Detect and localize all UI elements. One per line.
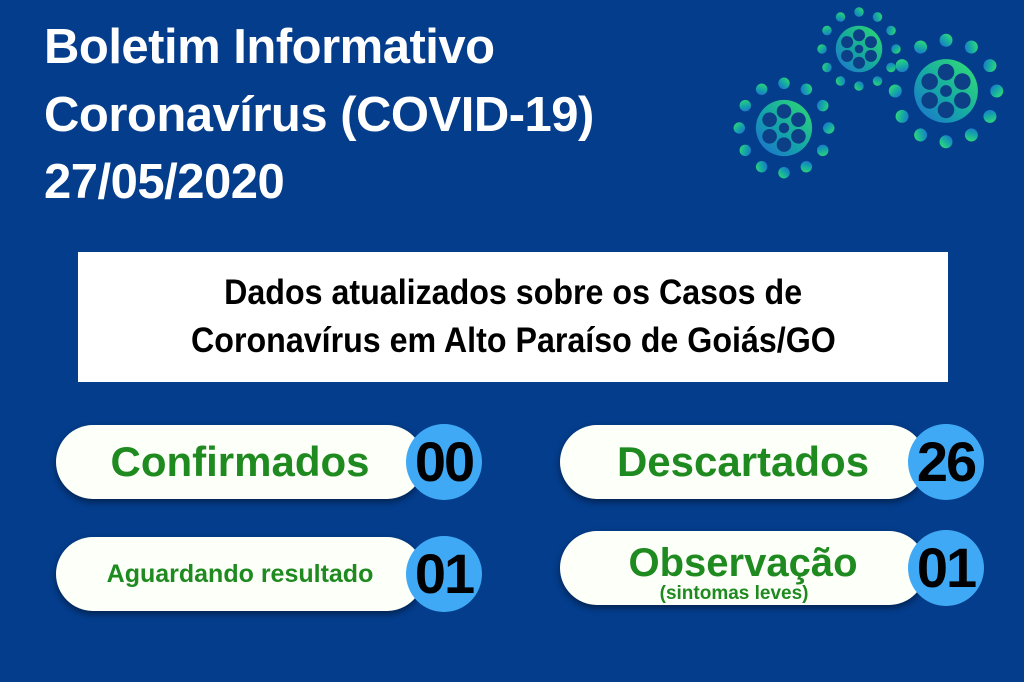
stat-confirmados: Confirmados 00 bbox=[56, 425, 482, 499]
stat-confirmados-pill: Confirmados bbox=[56, 425, 424, 499]
stat-observacao-pill: Observação (sintomas leves) bbox=[560, 531, 926, 605]
virus-icon-large bbox=[887, 32, 1005, 150]
stat-observacao-sublabel: (sintomas leves) bbox=[660, 584, 809, 603]
stat-descartados: Descartados 26 bbox=[560, 425, 984, 499]
stat-descartados-pill: Descartados bbox=[560, 425, 926, 499]
stat-observacao-value: 01 bbox=[917, 540, 975, 596]
stat-descartados-bubble: 26 bbox=[908, 424, 984, 500]
stat-observacao: Observação (sintomas leves) 01 bbox=[560, 531, 984, 605]
stat-observacao-label: Observação bbox=[628, 543, 857, 583]
stat-aguardando-value: 01 bbox=[415, 546, 473, 602]
stat-aguardando-pill: Aguardando resultado bbox=[56, 537, 424, 611]
covid-bulletin-poster: Boletim Informativo Coronavírus (COVID-1… bbox=[0, 0, 1024, 682]
stat-confirmados-bubble: 00 bbox=[406, 424, 482, 500]
subtitle-banner: Dados atualizados sobre os Casos de Coro… bbox=[78, 252, 948, 382]
stat-descartados-value: 26 bbox=[917, 434, 975, 490]
stat-aguardando-resultado: Aguardando resultado 01 bbox=[56, 537, 482, 611]
stat-aguardando-label: Aguardando resultado bbox=[107, 562, 374, 587]
title-date: 27/05/2020 bbox=[44, 149, 804, 217]
stat-observacao-bubble: 01 bbox=[908, 530, 984, 606]
title-line-2: Coronavírus (COVID-19) bbox=[44, 82, 804, 150]
title-line-1: Boletim Informativo bbox=[44, 14, 804, 82]
subtitle-line-2: Coronavírus em Alto Paraíso de Goiás/GO bbox=[191, 317, 836, 365]
stat-descartados-label: Descartados bbox=[617, 441, 869, 483]
virus-icon-small bbox=[816, 6, 902, 92]
stat-confirmados-label: Confirmados bbox=[110, 441, 369, 483]
subtitle-line-1: Dados atualizados sobre os Casos de bbox=[224, 269, 802, 317]
page-title: Boletim Informativo Coronavírus (COVID-1… bbox=[44, 14, 804, 217]
stat-confirmados-value: 00 bbox=[415, 434, 473, 490]
stat-aguardando-bubble: 01 bbox=[406, 536, 482, 612]
